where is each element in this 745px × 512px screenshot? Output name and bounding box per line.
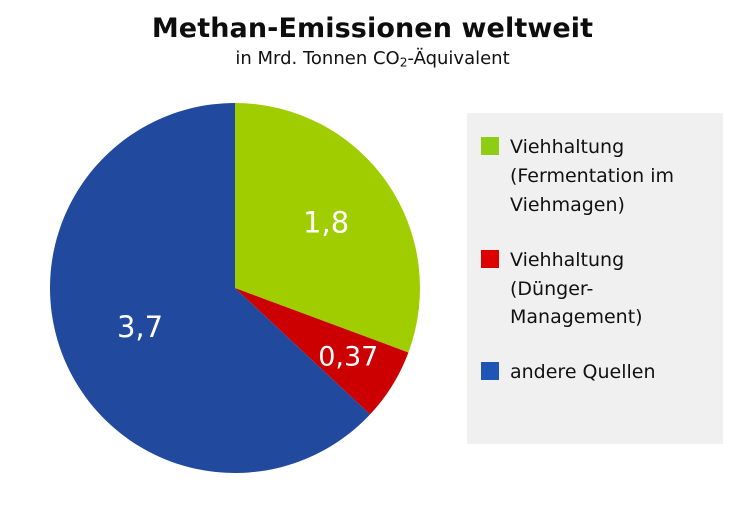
legend-swatch-icon-2 <box>481 362 499 380</box>
title-block: Methan-Emissionen weltweit in Mrd. Tonne… <box>0 14 745 70</box>
pie-slice-value-label-2: 3,7 <box>117 310 163 344</box>
legend-item-2[interactable]: andere Quellen <box>481 358 709 387</box>
legend-label-1: Viehhaltung (Dünger- Management) <box>510 246 643 333</box>
chart-subtitle-prefix: in Mrd. Tonnen CO <box>235 48 399 69</box>
legend-label-2: andere Quellen <box>510 358 656 387</box>
legend: Viehhaltung (Fermentation im Viehmagen) … <box>467 113 723 444</box>
legend-item-0[interactable]: Viehhaltung (Fermentation im Viehmagen) <box>481 133 709 220</box>
pie-chart-svg: 1,80,373,7 <box>50 99 430 479</box>
pie-slice-value-label-0: 1,8 <box>303 206 349 240</box>
legend-swatch-icon-0 <box>481 137 499 155</box>
pie-slice-group <box>50 103 420 473</box>
pie-slice-value-label-1: 0,37 <box>318 342 378 373</box>
legend-item-1[interactable]: Viehhaltung (Dünger- Management) <box>481 246 709 333</box>
legend-swatch-icon-1 <box>481 250 499 268</box>
chart-subtitle: in Mrd. Tonnen CO2-Äquivalent <box>0 49 745 70</box>
legend-label-0: Viehhaltung (Fermentation im Viehmagen) <box>510 133 674 220</box>
chart-subtitle-suffix: -Äquivalent <box>407 48 509 69</box>
page-title: Methan-Emissionen weltweit <box>0 14 745 44</box>
pie-chart: 1,80,373,7 <box>50 99 430 479</box>
